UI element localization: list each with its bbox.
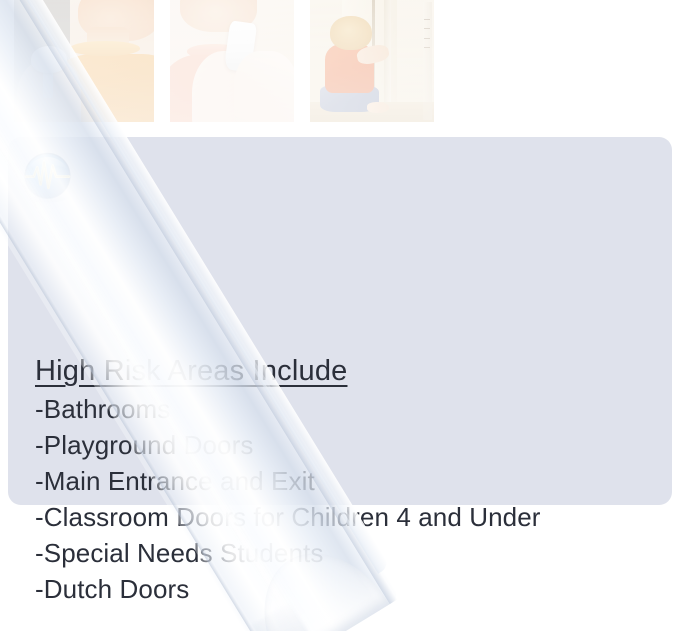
photo-2-scene <box>170 0 294 122</box>
page-title: High Risk Areas Include <box>35 351 665 391</box>
photo-3-wall-edge <box>423 2 432 119</box>
photo-toddler-at-door <box>310 0 434 122</box>
photo-hands-holding-guard <box>170 0 294 122</box>
photo-1-white-clip <box>31 46 67 73</box>
photo-3-toddler-head <box>330 16 372 50</box>
photo-3-scene <box>310 0 434 122</box>
product-usage-photos <box>14 0 434 122</box>
photo-2-right-hand <box>234 51 294 122</box>
infographic-canvas: High Risk Areas Include -Bathrooms -Play… <box>0 0 679 631</box>
list-item: -Classroom Doors for Children 4 and Unde… <box>35 499 665 535</box>
panel-text-block: High Risk Areas Include -Bathrooms -Play… <box>35 351 665 607</box>
list-item: -Dutch Doors <box>35 571 665 607</box>
list-item: -Special Needs Students <box>35 535 665 571</box>
high-risk-areas-panel: High Risk Areas Include -Bathrooms -Play… <box>8 137 672 505</box>
photo-child-shoulder-clip <box>14 0 154 122</box>
pulse-waveform-icon <box>20 150 75 205</box>
guard-top-cap <box>0 0 11 45</box>
photo-1-scene <box>14 0 154 122</box>
photo-1-child-collar <box>70 41 140 56</box>
high-risk-areas-list: -Bathrooms -Playground Doors -Main Entra… <box>35 391 665 607</box>
list-item: -Playground Doors <box>35 427 665 463</box>
list-item: -Main Entrance and Exit <box>35 463 665 499</box>
list-item: -Bathrooms <box>35 391 665 427</box>
